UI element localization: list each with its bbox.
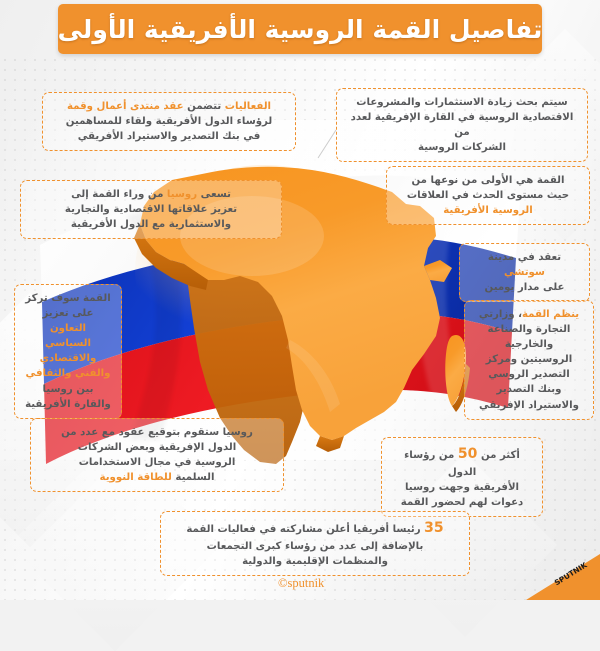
callout-line: الدول الإفريقية وبعض الشركات xyxy=(40,440,274,455)
callout-highlight: للطاقة النووية xyxy=(100,472,172,483)
callout-line: لرؤساء الدول الأفريقية ولقاء للمساهمين xyxy=(52,114,286,129)
callout-line: على مدار يومين xyxy=(469,280,580,295)
callout-line: الروسية في مجال الاستخدامات xyxy=(40,455,274,470)
sputnik-corner-banner: SPUTNIK xyxy=(526,554,600,600)
callout-first-of-kind: القمة هي الأولى من نوعها من حيث مستوى ال… xyxy=(386,166,590,225)
callout-line: التصدير الروسي xyxy=(474,367,584,382)
callout-text: السلمية xyxy=(172,472,215,483)
callout-highlight: والاقتصادي xyxy=(24,351,112,366)
callout-line: ينظم القمة، وزارتي xyxy=(474,307,584,322)
callout-line: القمة سوف تركز xyxy=(24,291,112,306)
page-title: تفاصيل القمة الروسية الأفريقية الأولى xyxy=(58,17,543,42)
callout-line: بين روسيا xyxy=(24,382,112,397)
callout-line: الاقتصادية الروسية في القارة الإفريقية ل… xyxy=(346,110,578,140)
callout-number: 35 xyxy=(424,520,443,536)
callout-line: التجارة والصناعة xyxy=(474,322,584,337)
callout-text: تتضمن xyxy=(184,101,225,112)
callout-highlight: سوتشي xyxy=(504,267,545,278)
callout-line: الروسيتين ومركز xyxy=(474,352,584,367)
callout-line: السلمية للطاقة النووية xyxy=(40,470,274,485)
callout-line: سيتم بحث زيادة الاستثمارات والمشروعات xyxy=(346,95,578,110)
copyright-credit: ©sputnik xyxy=(278,576,324,591)
callout-highlight: الروسية الأفريقية xyxy=(396,203,580,218)
callout-summit-focus: القمة سوف تركز على تعزيز التعاون السياسي… xyxy=(14,284,122,419)
callout-highlight: ينظم القمة xyxy=(522,309,579,320)
callout-highlight: الفعاليات xyxy=(225,101,271,112)
callout-highlight: التعاون xyxy=(24,321,112,336)
callout-text: من وراء القمة إلى xyxy=(71,189,167,200)
callout-text: أكثر من xyxy=(477,450,519,461)
callout-highlight: والفني والثقافي xyxy=(24,366,112,381)
callout-line: الشركات الروسية xyxy=(346,140,578,155)
callout-text: ، وزارتي xyxy=(479,309,522,320)
callout-line: 35 رئيسا أفريقيا أعلن مشاركته في فعاليات… xyxy=(170,518,460,539)
callout-text: تسعى xyxy=(197,189,231,200)
callout-line: حيث مستوى الحدث في العلاقات xyxy=(396,188,580,203)
callout-line: والخارجية xyxy=(474,337,584,352)
callout-line: وبنك التصدير xyxy=(474,382,584,397)
callout-highlight: عقد منتدى أعمال وقمة xyxy=(67,101,184,112)
callout-highlight: روسيا xyxy=(167,189,197,200)
callout-line: أكثر من 50 من رؤساء الدول xyxy=(391,444,533,480)
callout-line: على تعزيز xyxy=(24,306,112,321)
callout-line: والاستيراد الإفريقي xyxy=(474,398,584,413)
callout-line: بالإضافة إلى عدد من رؤساء كبرى التجمعات xyxy=(170,539,460,554)
callout-highlight: السياسي xyxy=(24,336,112,351)
callout-text: تعقد في مدينة xyxy=(488,252,561,263)
callout-line: دعوات لهم لحضور القمة xyxy=(391,495,533,510)
callout-attending-presidents: 35 رئيسا أفريقيا أعلن مشاركته في فعاليات… xyxy=(160,511,470,576)
callout-line: في بنك التصدير والاستيراد الأفريقي xyxy=(52,129,286,144)
callout-line: والاستثمارية مع الدول الأفريقية xyxy=(30,217,272,232)
callout-line: تعقد في مدينة سوتشي xyxy=(469,250,580,280)
callout-line: روسيا ستقوم بتوقيع عقود مع عدد من xyxy=(40,425,274,440)
callout-investment: سيتم بحث زيادة الاستثمارات والمشروعات ال… xyxy=(336,88,588,162)
callout-invited-leaders: أكثر من 50 من رؤساء الدول الأفريقية وجهت… xyxy=(381,437,543,517)
callout-organizers: ينظم القمة، وزارتي التجارة والصناعة والخ… xyxy=(464,300,594,420)
callout-line: الفعاليات تتضمن عقد منتدى أعمال وقمة xyxy=(52,99,286,114)
callout-line: القمة هي الأولى من نوعها من xyxy=(396,173,580,188)
callout-line: تعزيز علاقاتها الاقتصادية والتجارية xyxy=(30,202,272,217)
callout-line: والقارة الأفريقية xyxy=(24,397,112,412)
callout-line: الأفريقية وجهت روسيا xyxy=(391,480,533,495)
callout-line: تسعى روسيا من وراء القمة إلى xyxy=(30,187,272,202)
callout-russia-goals: تسعى روسيا من وراء القمة إلى تعزيز علاقا… xyxy=(20,180,282,239)
callout-line: والمنظمات الإقليمية والدولية xyxy=(170,554,460,569)
callout-nuclear-energy: روسيا ستقوم بتوقيع عقود مع عدد من الدول … xyxy=(30,418,284,492)
page-title-banner: تفاصيل القمة الروسية الأفريقية الأولى xyxy=(58,4,542,54)
callout-venue-sochi: تعقد في مدينة سوتشي على مدار يومين xyxy=(459,243,590,302)
callout-number: 50 xyxy=(458,446,477,462)
callout-text: رئيسا أفريقيا أعلن مشاركته في فعاليات ال… xyxy=(186,524,424,535)
callout-events: الفعاليات تتضمن عقد منتدى أعمال وقمة لرؤ… xyxy=(42,92,296,151)
